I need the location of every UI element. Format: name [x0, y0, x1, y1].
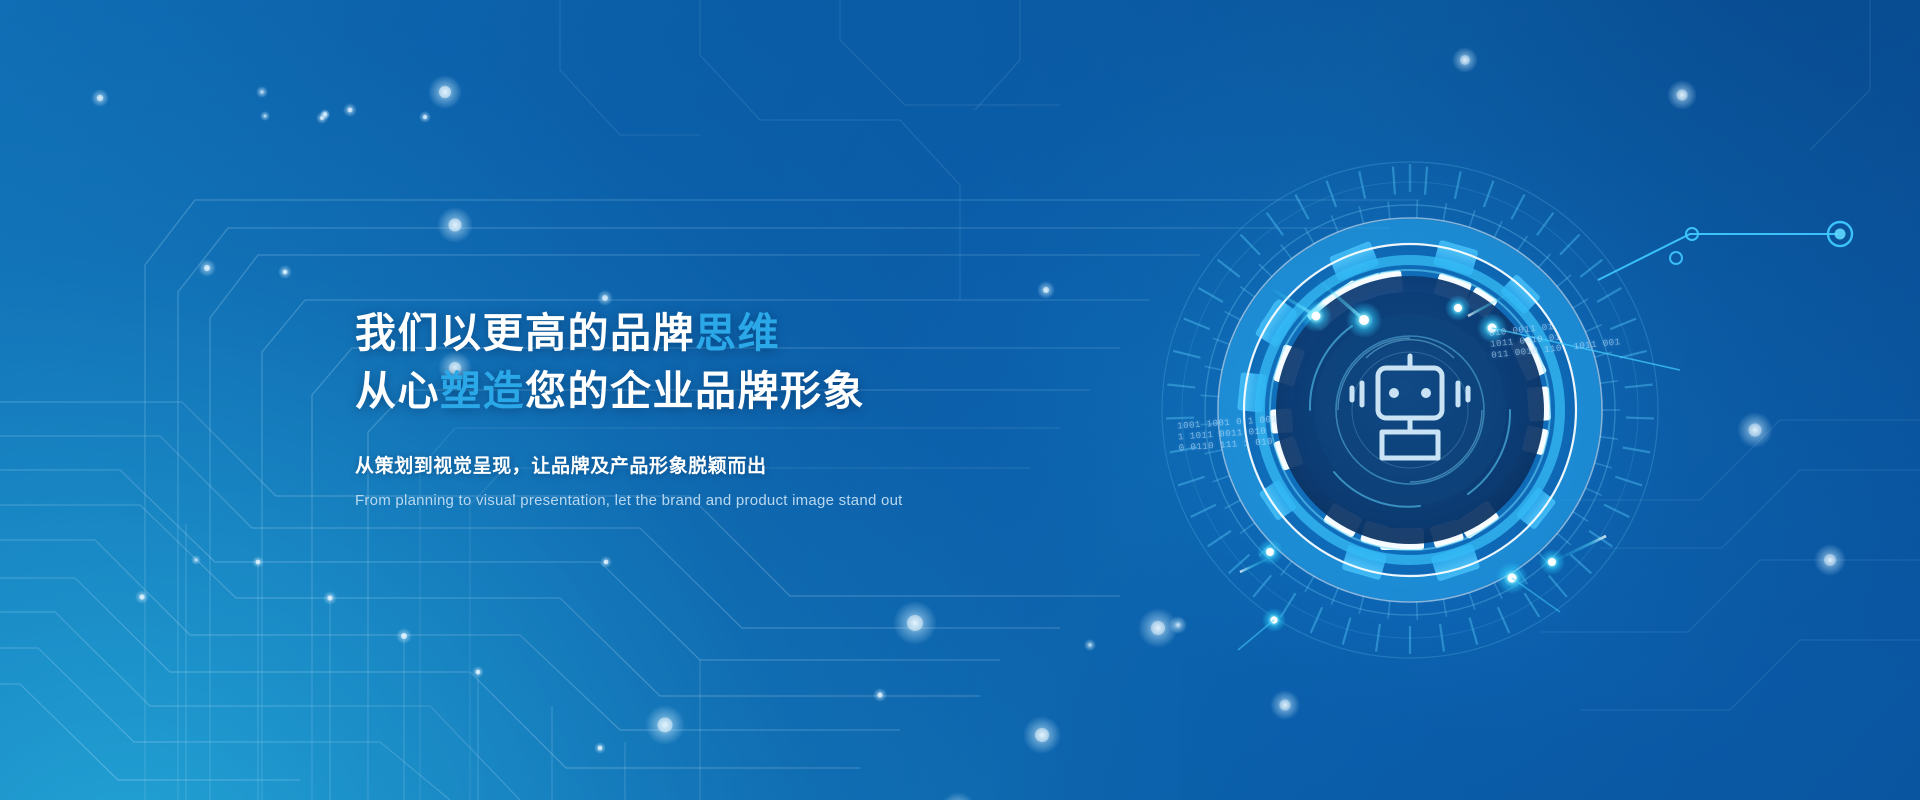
headline-line-1: 我们以更高的品牌思维: [355, 305, 1215, 361]
banner-copy: 我们以更高的品牌思维 从心塑造您的企业品牌形象 从策划到视觉呈现，让品牌及产品形…: [355, 305, 1215, 512]
headline-line-2-accent: 塑造: [440, 368, 525, 414]
headline-line-2-suffix: 您的企业品牌形象: [525, 368, 865, 414]
subtitle-english: From planning to visual presentation, le…: [355, 490, 1215, 512]
headline-line-2: 从心塑造您的企业品牌形象: [355, 363, 1215, 419]
hero-banner: 010 0011 01 1011 0010 01 011 0010 110 10…: [0, 0, 1920, 800]
headline-line-2-prefix: 从心: [355, 368, 440, 414]
headline-line-1-accent: 思维: [695, 310, 780, 356]
subtitle-chinese: 从策划到视觉呈现，让品牌及产品形象脱颖而出: [355, 453, 1215, 481]
headline-line-1-plain: 我们以更高的品牌: [355, 310, 695, 356]
